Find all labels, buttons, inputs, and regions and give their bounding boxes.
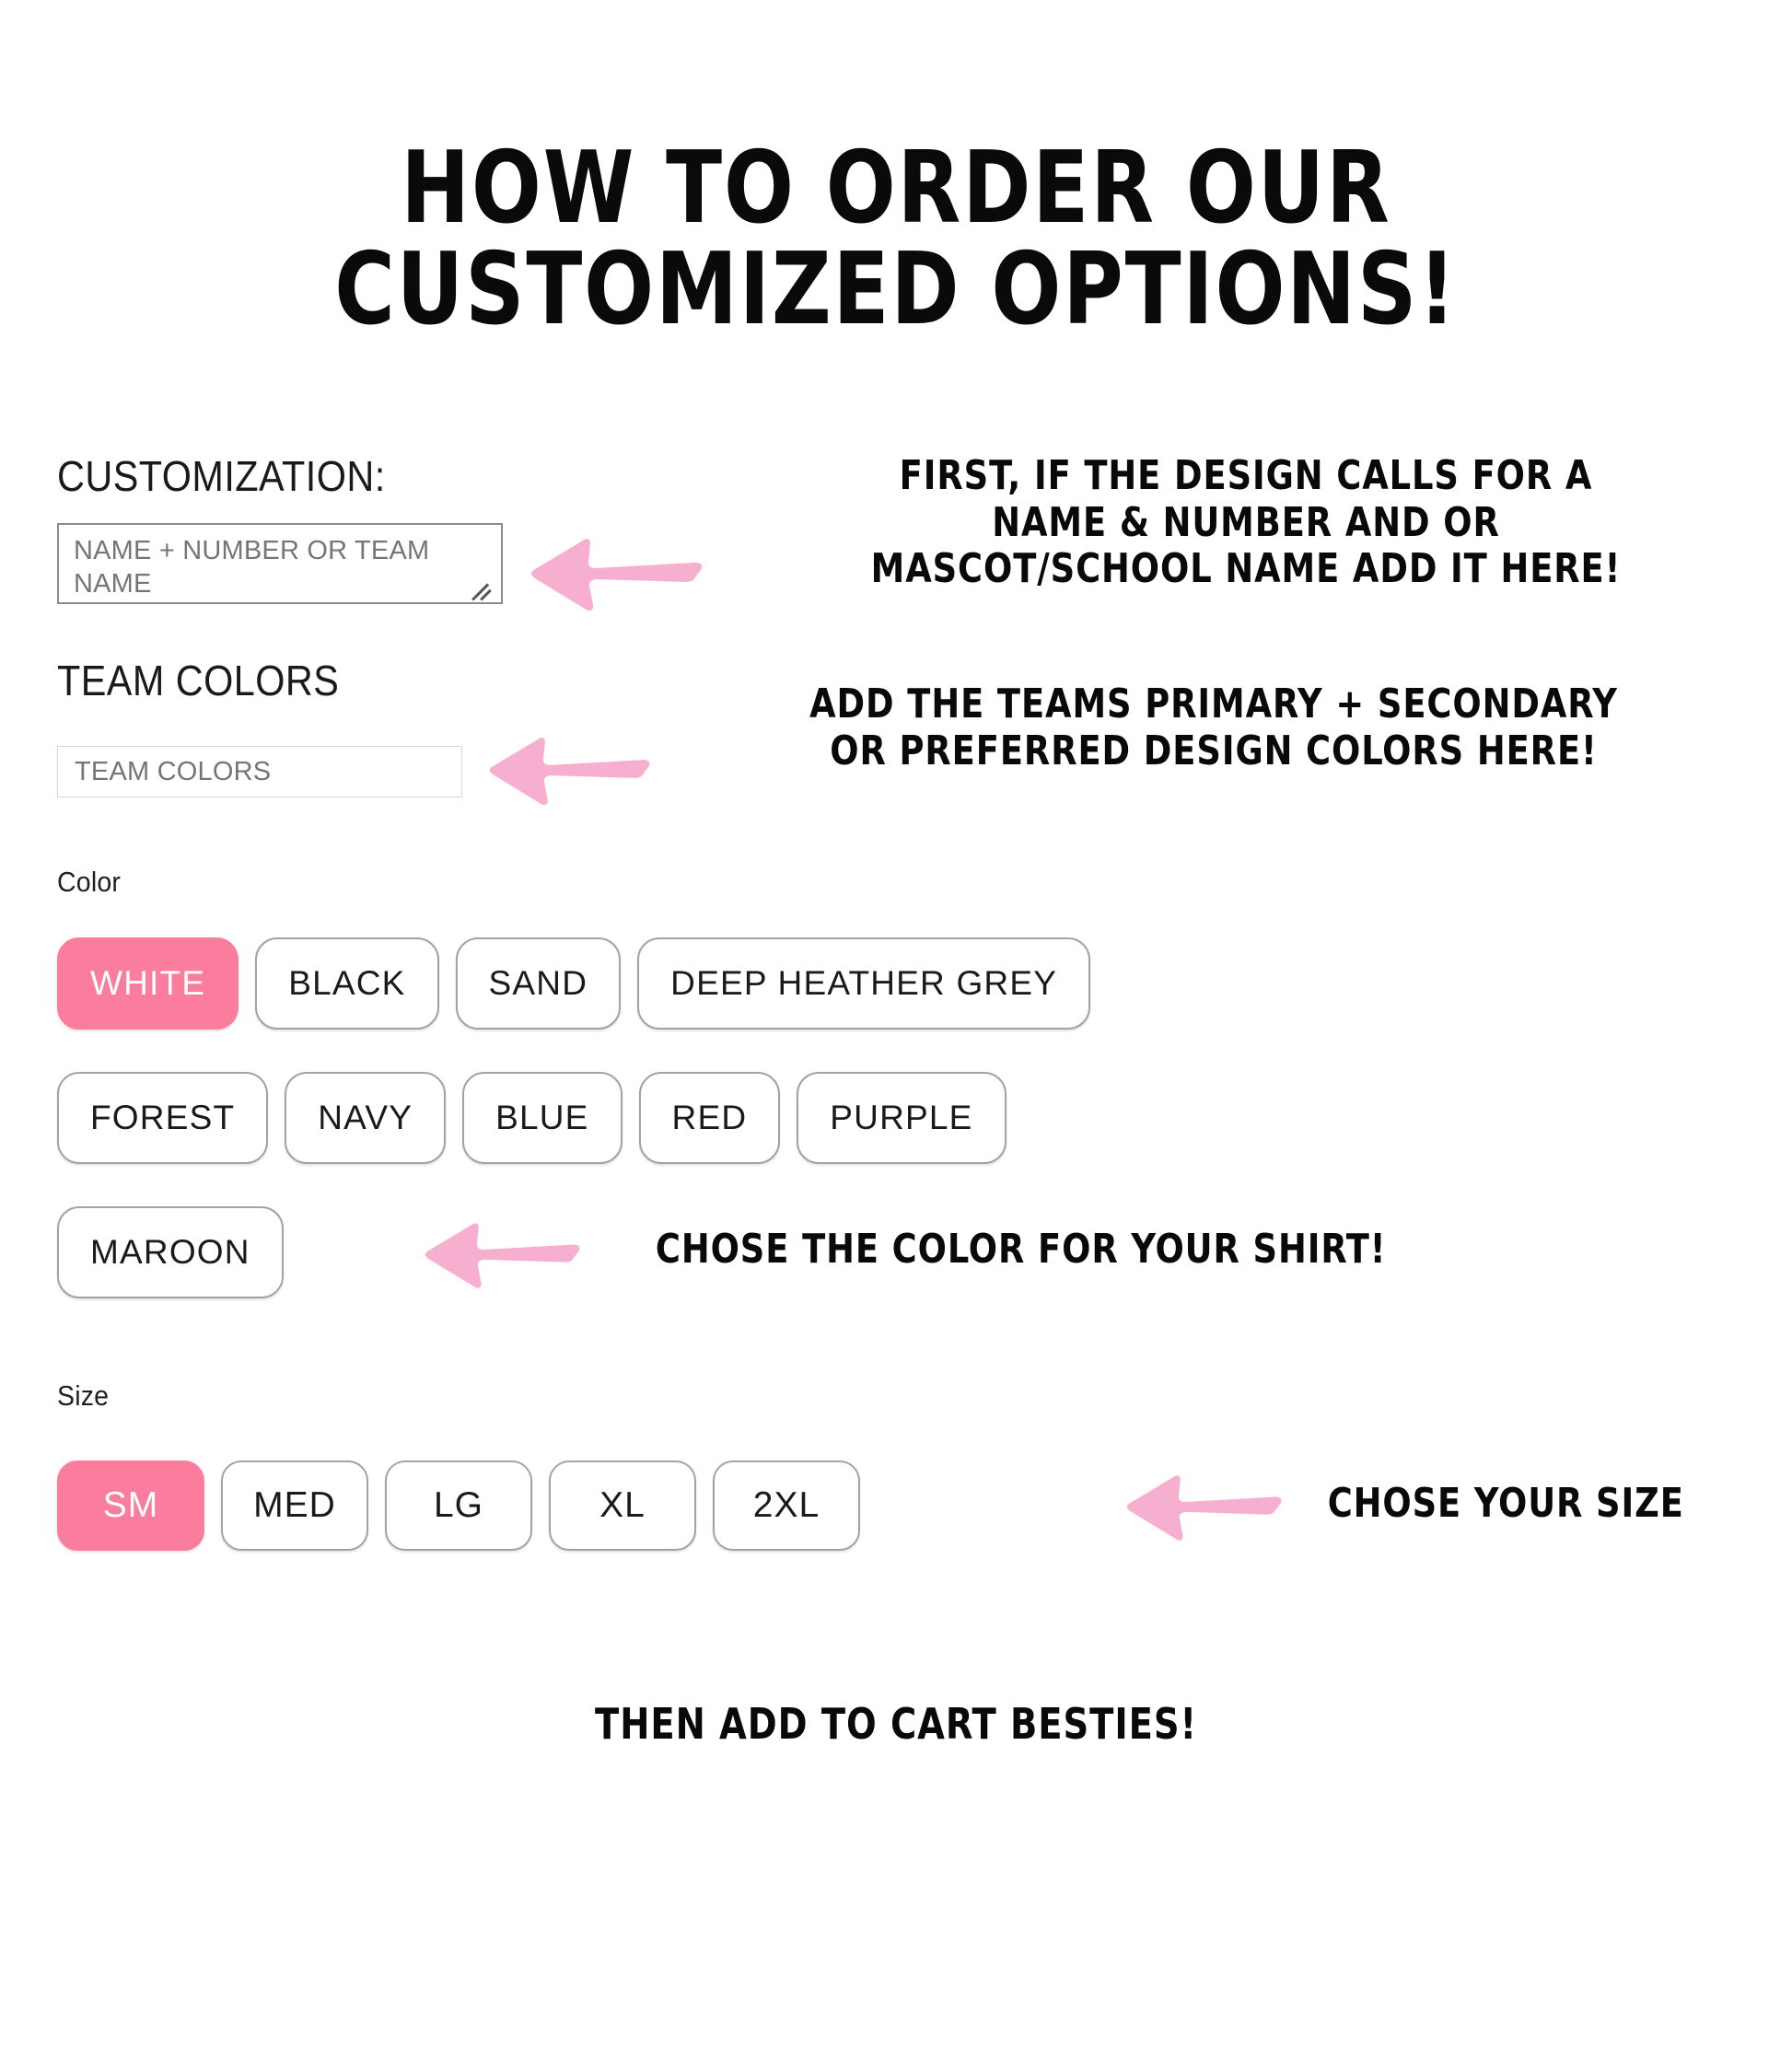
size-option-med[interactable]: MED — [221, 1460, 368, 1551]
size-option-note: CHOSE YOUR SIZE — [1328, 1481, 1792, 1528]
size-option-lg[interactable]: LG — [385, 1460, 532, 1551]
arrow-left-icon-color — [424, 1214, 582, 1295]
color-option-red[interactable]: RED — [639, 1072, 781, 1164]
team-colors-note-line-1: ADD THE TEAMS PRIMARY + SECONDARY — [676, 681, 1751, 728]
customization-note: FIRST, IF THE DESIGN CALLS FOR A NAME & … — [739, 453, 1754, 593]
arrow-left-icon-customization — [529, 529, 704, 617]
customization-note-line-1: FIRST, IF THE DESIGN CALLS FOR A — [739, 453, 1754, 500]
team-colors-input[interactable] — [57, 746, 462, 797]
color-option-forest[interactable]: FOREST — [57, 1072, 268, 1164]
color-option-purple[interactable]: PURPLE — [797, 1072, 1006, 1164]
customization-note-line-3: MASCOT/SCHOOL NAME ADD IT HERE! — [739, 546, 1754, 593]
customization-note-line-2: NAME & NUMBER AND OR — [739, 500, 1754, 547]
color-option-maroon[interactable]: MAROON — [57, 1206, 284, 1298]
color-option-note: CHOSE THE COLOR FOR YOUR SHIRT! — [656, 1227, 1632, 1274]
color-option-white[interactable]: WHITE — [57, 937, 239, 1030]
size-option-xl[interactable]: XL — [549, 1460, 696, 1551]
color-options-row-1: WHITE BLACK SAND DEEP HEATHER GREY — [57, 937, 1107, 1030]
color-options-row-3: MAROON — [57, 1206, 300, 1298]
arrow-left-icon-team-colors — [488, 727, 652, 812]
footer-note: THEN ADD TO CART BESTIES! — [63, 1700, 1729, 1749]
size-option-sm[interactable]: SM — [57, 1460, 204, 1551]
color-option-label: Color — [57, 866, 121, 899]
arrow-left-icon-size — [1125, 1466, 1284, 1547]
customization-input[interactable] — [57, 523, 503, 604]
color-option-sand[interactable]: SAND — [456, 937, 622, 1030]
how-to-order-infographic: HOW TO ORDER OUR CUSTOMIZED OPTIONS! CUS… — [0, 0, 1792, 2048]
color-option-navy[interactable]: NAVY — [285, 1072, 446, 1164]
page-title-line-1: HOW TO ORDER OUR — [401, 131, 1391, 246]
size-option-label: Size — [57, 1379, 109, 1413]
page-title-line-2: CUSTOMIZED OPTIONS! — [72, 239, 1720, 341]
customization-label: CUSTOMIZATION: — [57, 451, 386, 501]
team-colors-label: TEAM COLORS — [57, 656, 339, 705]
color-option-deep-heather-grey[interactable]: DEEP HEATHER GREY — [637, 937, 1090, 1030]
team-colors-note-line-2: OR PREFERRED DESIGN COLORS HERE! — [676, 728, 1751, 775]
color-option-black[interactable]: BLACK — [255, 937, 438, 1030]
color-options-row-2: FOREST NAVY BLUE RED PURPLE — [57, 1072, 1023, 1164]
team-colors-note: ADD THE TEAMS PRIMARY + SECONDARY OR PRE… — [676, 681, 1751, 774]
size-options-row: SM MED LG XL 2XL — [57, 1460, 877, 1551]
page-title: HOW TO ORDER OUR CUSTOMIZED OPTIONS! — [72, 138, 1720, 341]
size-option-2xl[interactable]: 2XL — [713, 1460, 860, 1551]
color-option-blue[interactable]: BLUE — [462, 1072, 622, 1164]
